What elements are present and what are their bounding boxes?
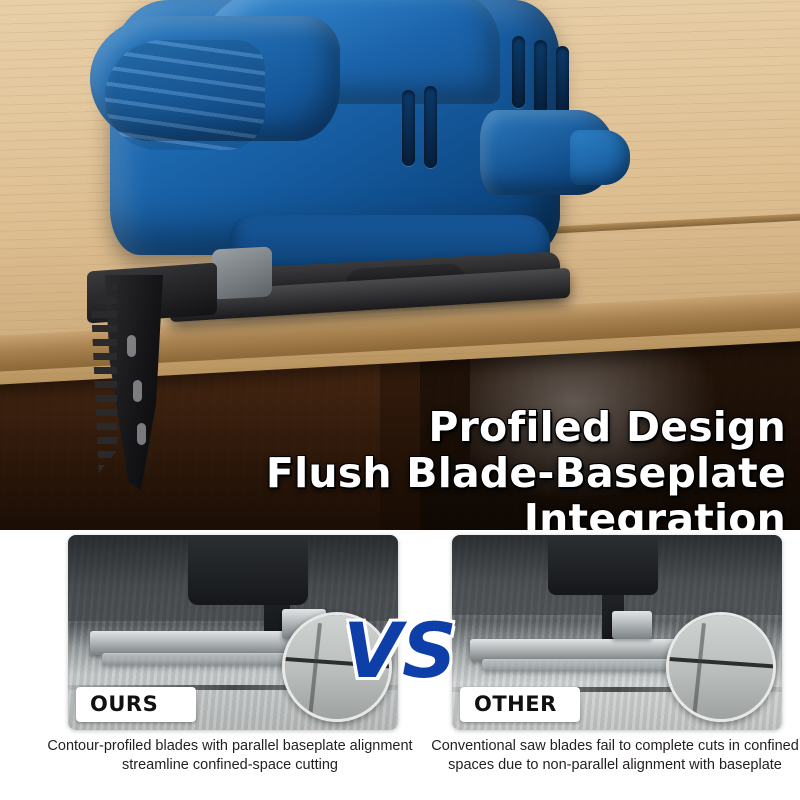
hero-title-line-2: Flush Blade-Baseplate Integration: [0, 450, 800, 530]
ours-tool-body: [188, 535, 308, 605]
jigsaw-blade-guard: [212, 246, 272, 299]
product-infographic: Profiled Design Flush Blade-Baseplate In…: [0, 0, 800, 800]
badge-other: OTHER: [460, 687, 580, 722]
caption-other: Conventional saw blades fail to complete…: [420, 737, 800, 775]
caption-ours: Contour-profiled blades with parallel ba…: [35, 737, 425, 775]
hero-title-block: Profiled Design Flush Blade-Baseplate In…: [0, 404, 800, 514]
versus-label: VS: [330, 608, 470, 693]
jigsaw-end-cap: [570, 130, 630, 185]
other-tool-body: [548, 535, 658, 595]
jigsaw-vent-slot: [556, 46, 569, 116]
other-photo: OTHER: [452, 535, 782, 730]
hero-title-line-1: Profiled Design: [0, 404, 800, 450]
blade-cutout: [133, 380, 142, 402]
jigsaw-grip-ribs: [105, 40, 265, 150]
comparison-section: OURS OTHER VS: [0, 530, 800, 800]
jigsaw-vent-slot: [512, 36, 525, 108]
badge-ours: OURS: [76, 687, 196, 722]
blade-cutout: [127, 335, 136, 357]
jigsaw-vent-slot: [402, 90, 415, 166]
comparison-card-other: OTHER: [452, 535, 782, 730]
other-zoom-inset: [666, 612, 776, 722]
other-clamp-block: [612, 611, 652, 639]
jigsaw-vent-slot: [424, 86, 437, 168]
jigsaw-vent-slot: [534, 40, 547, 114]
hero-photo: Profiled Design Flush Blade-Baseplate In…: [0, 0, 800, 530]
